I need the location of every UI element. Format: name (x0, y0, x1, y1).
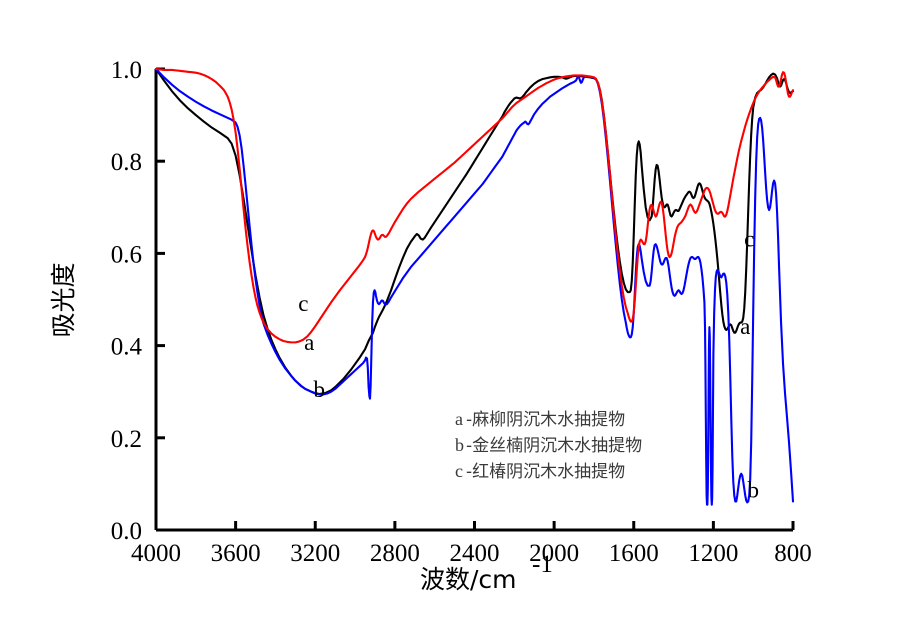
x-axis-title-text: 波数/cm (420, 565, 517, 594)
legend-item-a: a-麻柳阴沉木水抽提物 (455, 409, 625, 430)
y-tick-label: 0.4 (111, 334, 143, 361)
legend-key-b: b (455, 435, 464, 455)
curve-tag-b: b (747, 478, 759, 503)
y-tick-label: 0.8 (111, 149, 142, 176)
legend-key-a: a (455, 409, 463, 429)
x-tick-label: 2800 (370, 540, 420, 567)
x-tick-label: 2400 (450, 540, 500, 567)
x-axis-tick-labels: 40003600320028002400200016001200800 (131, 540, 812, 567)
x-tick-label: 800 (774, 540, 812, 567)
y-tick-label: 0.6 (111, 241, 142, 268)
y-axis-title: 吸光度 (49, 262, 78, 337)
x-tick-label: 1200 (688, 540, 738, 567)
curve-tag-a: a (304, 330, 314, 355)
legend-key-c: c (455, 461, 463, 481)
chart-canvas: 40003600320028002400200016001200800 0.00… (0, 0, 900, 631)
y-axis-title-text: 吸光度 (49, 262, 78, 337)
legend-label-b: -金丝楠阴沉木水抽提物 (466, 436, 642, 456)
x-axis-title-superscript: -1 (532, 551, 553, 578)
ftir-spectra-chart: 40003600320028002400200016001200800 0.00… (0, 0, 900, 631)
legend-label-c: -红椿阴沉木水抽提物 (466, 462, 625, 482)
y-tick-label: 0.0 (111, 518, 142, 545)
x-tick-label: 3600 (211, 540, 261, 567)
x-tick-label: 3200 (290, 540, 340, 567)
legend: a-麻柳阴沉木水抽提物b-金丝楠阴沉木水抽提物c-红椿阴沉木水抽提物 (455, 409, 642, 482)
legend-item-c: c-红椿阴沉木水抽提物 (455, 461, 625, 482)
curve-tag-b: b (313, 377, 325, 402)
x-tick-label: 1600 (609, 540, 659, 567)
curve-tag-c: c (744, 226, 754, 251)
legend-item-b: b-金丝楠阴沉木水抽提物 (455, 435, 642, 456)
curve-tag-c: c (298, 291, 308, 316)
y-tick-label: 0.2 (111, 426, 142, 453)
curve-tag-a: a (740, 314, 750, 339)
y-tick-label: 1.0 (111, 57, 142, 84)
legend-label-a: -麻柳阴沉木水抽提物 (466, 410, 625, 430)
